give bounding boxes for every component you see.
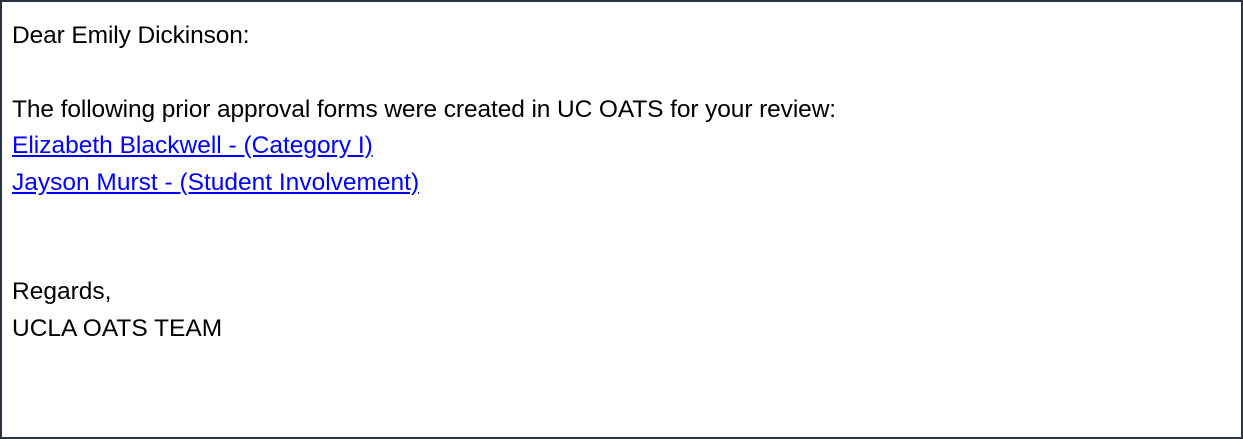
email-signature: UCLA OATS TEAM <box>12 311 1231 348</box>
email-intro-text: The following prior approval forms were … <box>12 92 1231 129</box>
email-closing: Regards, <box>12 274 1231 311</box>
spacer-before-closing <box>12 201 1231 274</box>
spacer-after-salutation <box>12 55 1231 92</box>
form-link-elizabeth-blackwell[interactable]: Elizabeth Blackwell - (Category I) <box>12 132 373 159</box>
email-notification-frame: Dear Emily Dickinson: The following prio… <box>0 0 1243 439</box>
email-body: Dear Emily Dickinson: The following prio… <box>12 18 1231 431</box>
form-link-jayson-murst[interactable]: Jayson Murst - (Student Involvement) <box>12 169 419 196</box>
form-link-row-1: Elizabeth Blackwell - (Category I) <box>12 128 1231 165</box>
email-salutation: Dear Emily Dickinson: <box>12 18 1231 55</box>
form-link-row-2: Jayson Murst - (Student Involvement) <box>12 165 1231 202</box>
